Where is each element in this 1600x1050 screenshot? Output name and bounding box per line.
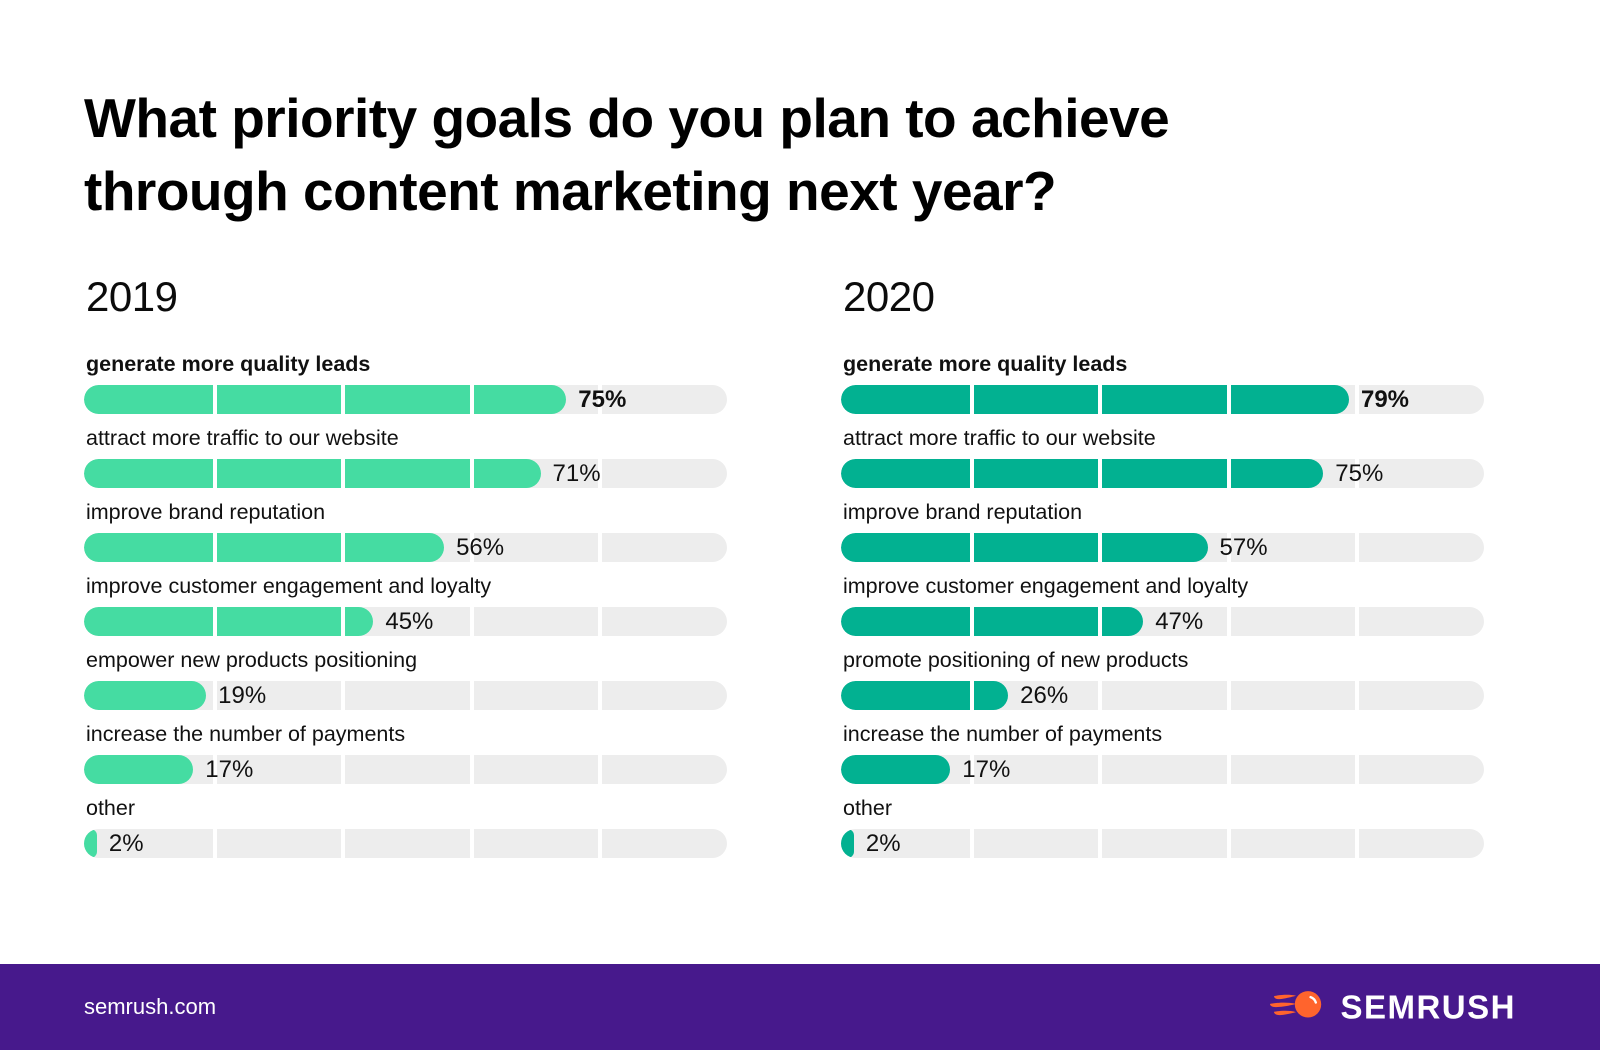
bar-row: generate more quality leads 79% [841, 354, 1486, 428]
track-divider [1227, 829, 1231, 858]
bar-row: attract more traffic to our website 71% [84, 428, 729, 502]
bar-row: increase the number of payments 17% [84, 724, 729, 798]
bar-fill [841, 459, 1323, 488]
track-divider [1355, 681, 1359, 710]
bar-track: 75% [841, 459, 1484, 488]
bar-label: improve brand reputation [86, 502, 729, 524]
bar-rows-2020: generate more quality leads 79% attract … [841, 354, 1486, 872]
bar-label: increase the number of payments [86, 724, 729, 746]
track-divider [598, 829, 602, 858]
panel-heading-2019: 2019 [86, 276, 729, 320]
track-divider [470, 607, 474, 636]
track-divider [970, 533, 974, 562]
bar-value: 79% [1361, 385, 1409, 414]
bar-row: other 2% [841, 798, 1486, 872]
track-divider [1098, 681, 1102, 710]
track-divider [1355, 755, 1359, 784]
track-divider [1355, 829, 1359, 858]
bar-label: other [843, 798, 1486, 820]
track-divider [470, 755, 474, 784]
track-divider [213, 829, 217, 858]
track-divider [970, 681, 974, 710]
footer-bar: semrush.com SEMRUSH [0, 964, 1600, 1050]
track-divider [213, 607, 217, 636]
bar-value: 2% [109, 829, 144, 858]
track-divider [970, 829, 974, 858]
bar-value: 2% [866, 829, 901, 858]
bar-label: improve customer engagement and loyalty [86, 576, 729, 598]
bar-label: improve customer engagement and loyalty [843, 576, 1486, 598]
bar-fill [841, 385, 1349, 414]
bar-label: generate more quality leads [843, 354, 1486, 376]
brand-wordmark: SEMRUSH [1340, 991, 1516, 1024]
bar-value: 17% [205, 755, 253, 784]
bar-value: 71% [553, 459, 601, 488]
track-divider [213, 681, 217, 710]
bar-rows-2019: generate more quality leads 75% attract … [84, 354, 729, 872]
track-divider [1098, 459, 1102, 488]
track-divider [1227, 459, 1231, 488]
track-divider [470, 459, 474, 488]
panel-heading-2020: 2020 [843, 276, 1486, 320]
track-divider [470, 681, 474, 710]
bar-label: attract more traffic to our website [86, 428, 729, 450]
track-divider [1098, 533, 1102, 562]
bar-value: 19% [218, 681, 266, 710]
bar-label: empower new products positioning [86, 650, 729, 672]
bar-label: other [86, 798, 729, 820]
bar-value: 57% [1220, 533, 1268, 562]
track-divider [470, 385, 474, 414]
track-divider [598, 681, 602, 710]
bar-track: 75% [84, 385, 727, 414]
track-divider [470, 829, 474, 858]
track-divider [213, 459, 217, 488]
bar-fill [84, 829, 97, 858]
bar-track: 17% [84, 755, 727, 784]
bar-row: improve brand reputation 56% [84, 502, 729, 576]
bar-value: 75% [578, 385, 626, 414]
track-divider [213, 533, 217, 562]
bar-value: 56% [456, 533, 504, 562]
bar-row: empower new products positioning 19% [84, 650, 729, 724]
track-divider [1227, 681, 1231, 710]
track-divider [213, 385, 217, 414]
bar-value: 75% [1335, 459, 1383, 488]
track-divider [1227, 755, 1231, 784]
track-divider [970, 607, 974, 636]
bar-fill [84, 385, 566, 414]
bar-label: improve brand reputation [843, 502, 1486, 524]
footer-url[interactable]: semrush.com [84, 994, 216, 1020]
bar-value: 47% [1155, 607, 1203, 636]
bar-fill [841, 829, 854, 858]
bar-label: increase the number of payments [843, 724, 1486, 746]
bar-value: 26% [1020, 681, 1068, 710]
bar-row: promote positioning of new products 26% [841, 650, 1486, 724]
bar-value: 17% [962, 755, 1010, 784]
bar-row: improve brand reputation 57% [841, 502, 1486, 576]
bar-row: other 2% [84, 798, 729, 872]
bar-fill [84, 681, 206, 710]
bar-value: 45% [385, 607, 433, 636]
track-divider [341, 459, 345, 488]
track-divider [341, 607, 345, 636]
bar-track: 45% [84, 607, 727, 636]
bar-track: 47% [841, 607, 1484, 636]
bar-track: 56% [84, 533, 727, 562]
bar-fill [841, 755, 950, 784]
chart-panel-2020: 2020 generate more quality leads 79% att… [841, 276, 1486, 872]
track-divider [1098, 607, 1102, 636]
bar-row: generate more quality leads 75% [84, 354, 729, 428]
track-divider [598, 607, 602, 636]
track-divider [1098, 385, 1102, 414]
bar-row: improve customer engagement and loyalty … [84, 576, 729, 650]
bar-track: 19% [84, 681, 727, 710]
bar-fill [84, 607, 373, 636]
bar-row: increase the number of payments 17% [841, 724, 1486, 798]
chart-panel-2019: 2019 generate more quality leads 75% att… [84, 276, 729, 872]
track-divider [341, 755, 345, 784]
bar-track: 57% [841, 533, 1484, 562]
bar-track: 2% [841, 829, 1484, 858]
bar-row: attract more traffic to our website 75% [841, 428, 1486, 502]
track-divider [598, 755, 602, 784]
track-divider [341, 829, 345, 858]
bar-fill [84, 755, 193, 784]
bar-fill [841, 533, 1208, 562]
bar-label: generate more quality leads [86, 354, 729, 376]
bar-fill [841, 681, 1008, 710]
bar-track: 26% [841, 681, 1484, 710]
track-divider [598, 533, 602, 562]
track-divider [1355, 533, 1359, 562]
bar-track: 17% [841, 755, 1484, 784]
page-title: What priority goals do you plan to achie… [84, 82, 1384, 228]
track-divider [1098, 829, 1102, 858]
bar-label: attract more traffic to our website [843, 428, 1486, 450]
track-divider [970, 385, 974, 414]
bar-track: 79% [841, 385, 1484, 414]
track-divider [1355, 385, 1359, 414]
bar-track: 2% [84, 829, 727, 858]
bar-label: promote positioning of new products [843, 650, 1486, 672]
track-divider [341, 533, 345, 562]
track-divider [341, 681, 345, 710]
bar-row: improve customer engagement and loyalty … [841, 576, 1486, 650]
track-divider [1227, 607, 1231, 636]
track-divider [1098, 755, 1102, 784]
bar-track: 71% [84, 459, 727, 488]
bar-fill [84, 533, 444, 562]
semrush-comet-icon [1270, 988, 1326, 1027]
track-divider [1227, 385, 1231, 414]
brand-logo: SEMRUSH [1270, 988, 1516, 1027]
track-divider [1355, 607, 1359, 636]
track-divider [970, 459, 974, 488]
track-divider [341, 385, 345, 414]
